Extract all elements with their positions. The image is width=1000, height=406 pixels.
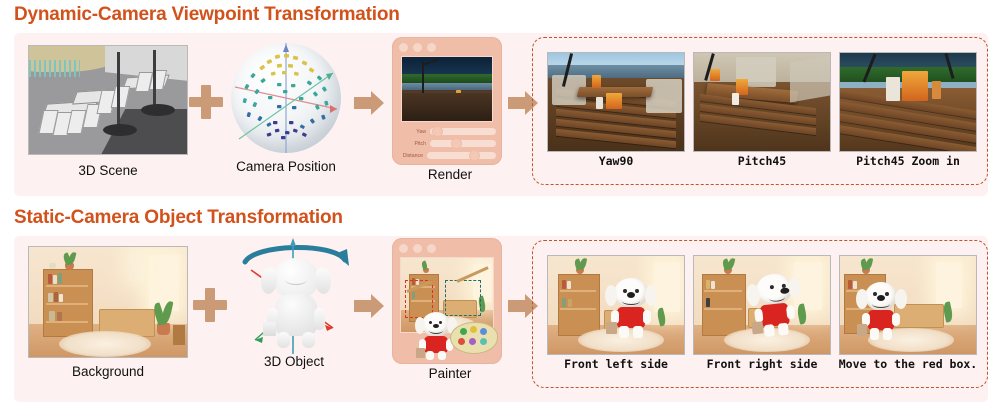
results-group-static: Front left side (532, 240, 988, 388)
slider-knob-pitch[interactable] (452, 139, 461, 148)
slider-knob-yaw[interactable] (433, 127, 442, 136)
arrow-right-icon (354, 292, 384, 320)
control-yaw[interactable]: Yaw (398, 128, 496, 135)
result-front-right-side: Front right side (693, 255, 831, 355)
caption-result: Front left side (564, 357, 668, 371)
slider-track-pitch[interactable] (430, 140, 496, 147)
caption-camera-position: Camera Position (227, 159, 345, 174)
result-pitch45: Pitch45 (693, 52, 831, 152)
input-3d-object: 3D Object (229, 236, 359, 362)
pipeline-painter: Painter (390, 238, 510, 390)
painter-window[interactable] (392, 238, 502, 364)
control-distance[interactable]: Distance (395, 152, 496, 159)
window-titlebar (399, 244, 436, 253)
input-3d-scene: 3D Scene (28, 45, 188, 155)
result-pitch45-zoom-in: Pitch45 Zoom in (839, 52, 977, 152)
caption-result: Pitch45 Zoom in (856, 154, 960, 168)
section-dynamic-camera: Dynamic-Camera Viewpoint Transformation (0, 0, 1000, 200)
section-title-dynamic: Dynamic-Camera Viewpoint Transformation (0, 0, 1000, 27)
window-dot-icon[interactable] (427, 43, 436, 52)
slider-track-yaw[interactable] (430, 128, 496, 135)
control-label-pitch: Pitch (398, 141, 426, 147)
caption-result: Yaw90 (599, 154, 634, 168)
plus-icon (189, 85, 223, 119)
window-dot-icon[interactable] (399, 43, 408, 52)
section-static-camera: Static-Camera Object Transformation (0, 203, 1000, 406)
window-dot-icon[interactable] (427, 244, 436, 253)
result-move-to-red-box: Move to the red box. (839, 255, 977, 355)
arrow-right-icon (354, 89, 384, 117)
window-dot-icon[interactable] (399, 244, 408, 253)
result-front-left-side: Front left side (547, 255, 685, 355)
control-label-distance: Distance (395, 153, 423, 159)
paint-palette-icon (450, 322, 498, 354)
annotation-box-teal (445, 280, 481, 316)
input-background: Background (28, 246, 188, 358)
render-preview (401, 56, 493, 122)
results-group-dynamic: Yaw90 (532, 37, 988, 185)
caption-result: Pitch45 (738, 154, 786, 168)
section-title-static: Static-Camera Object Transformation (0, 203, 1000, 230)
input-camera-position: Camera Position (227, 41, 345, 159)
control-label-yaw: Yaw (398, 129, 426, 135)
caption-painter: Painter (390, 366, 510, 381)
panel-static-camera: Background (14, 236, 988, 402)
window-titlebar (399, 43, 436, 52)
control-pitch[interactable]: Pitch (398, 140, 496, 147)
window-dot-icon[interactable] (413, 43, 422, 52)
thumb-background (28, 246, 188, 358)
caption-result: Front right side (707, 357, 818, 371)
result-yaw90: Yaw90 (547, 52, 685, 152)
caption-3d-object: 3D Object (229, 354, 359, 369)
caption-result: Move to the red box. (839, 357, 977, 371)
caption-3d-scene: 3D Scene (28, 163, 188, 178)
slider-track-distance[interactable] (427, 152, 496, 159)
slider-knob-distance[interactable] (470, 151, 479, 160)
caption-render: Render (390, 167, 510, 182)
pipeline-render: Yaw Pitch Distance (390, 37, 510, 189)
panel-dynamic-camera: 3D Scene (14, 33, 988, 196)
render-window[interactable]: Yaw Pitch Distance (392, 37, 502, 165)
window-dot-icon[interactable] (413, 244, 422, 253)
plus-icon (193, 288, 227, 322)
caption-background: Background (28, 364, 188, 379)
thumb-3d-scene (28, 45, 188, 155)
